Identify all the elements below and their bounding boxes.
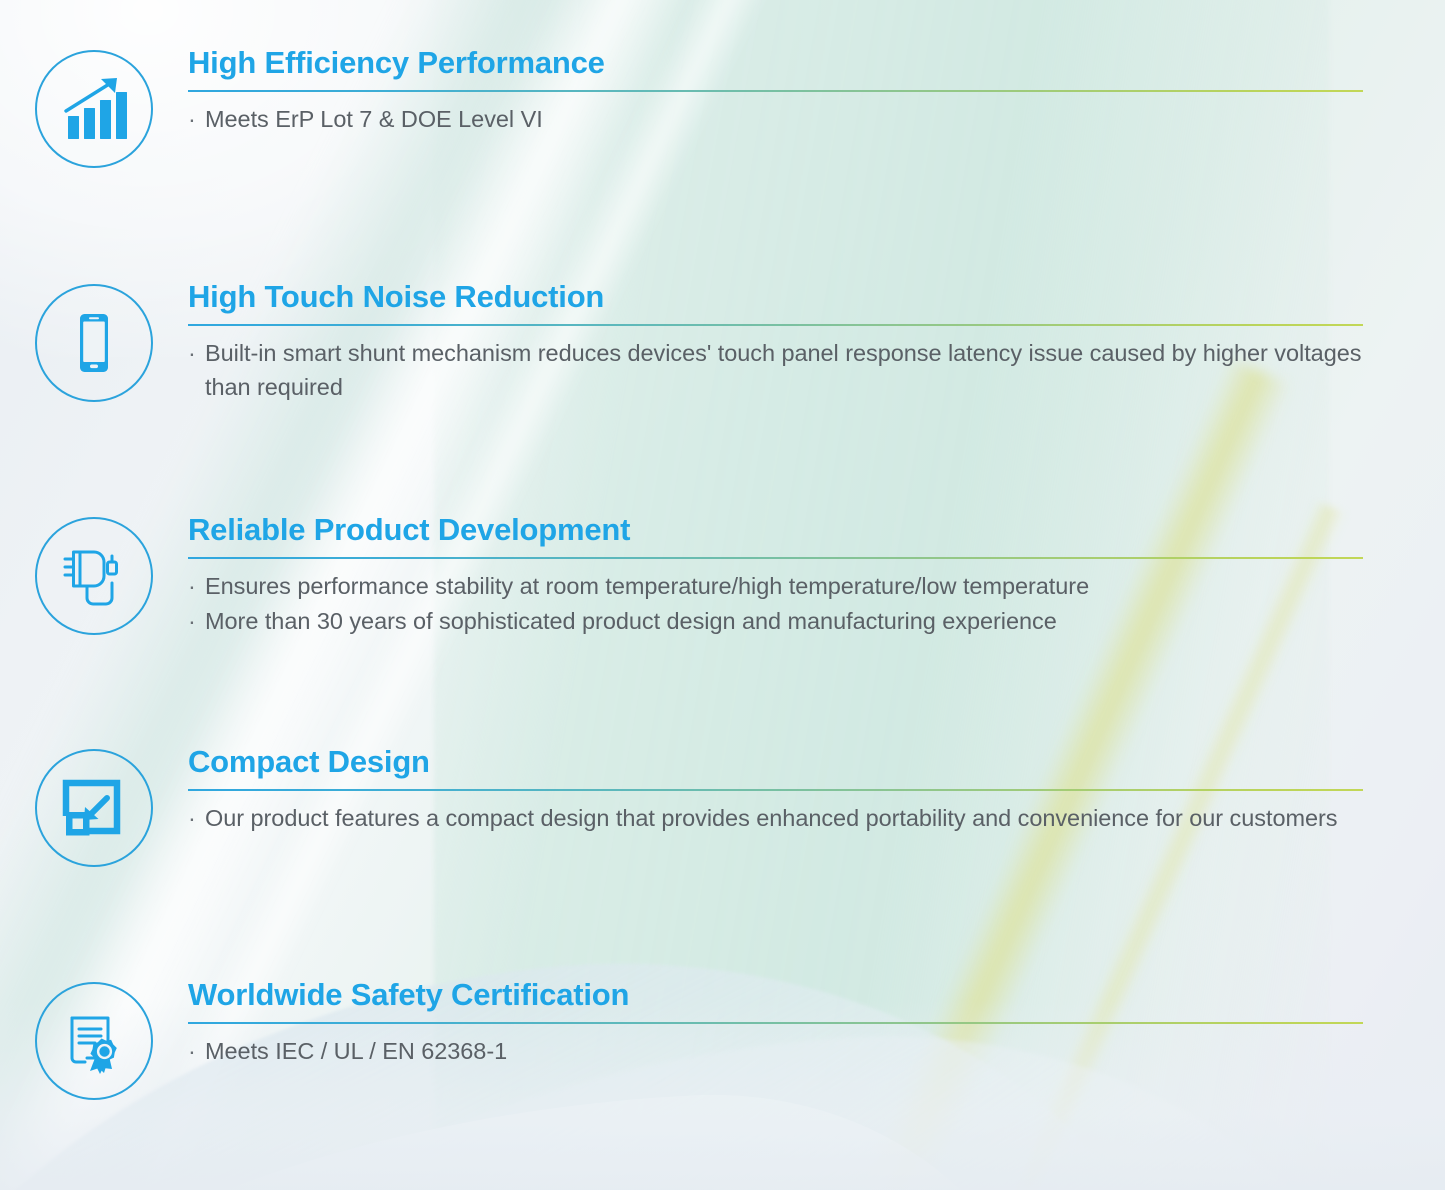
feature-item-reliable-product-development: Reliable Product Development · Ensures p…: [0, 513, 1445, 639]
feature-bullet-list: · Ensures performance stability at room …: [188, 569, 1363, 640]
feature-text-block: Compact Design · Our product features a …: [188, 745, 1445, 835]
feature-item-compact-design: Compact Design · Our product features a …: [0, 745, 1445, 867]
bullet-text: Ensures performance stability at room te…: [205, 569, 1363, 604]
feature-item-worldwide-safety-certification: Worldwide Safety Certification · Meets I…: [0, 978, 1445, 1100]
feature-bullet: · Ensures performance stability at room …: [188, 569, 1363, 604]
feature-divider-rule: [188, 557, 1363, 559]
feature-bullet-list: · Built-in smart shunt mechanism reduces…: [188, 336, 1363, 406]
growth-bar-chart-icon: [35, 50, 153, 168]
feature-bullet: · Meets ErP Lot 7 & DOE Level VI: [188, 102, 1363, 137]
feature-bullet: · Meets IEC / UL / EN 62368-1: [188, 1034, 1363, 1069]
bullet-text: Built-in smart shunt mechanism reduces d…: [205, 336, 1363, 406]
compact-resize-icon: [35, 749, 153, 867]
feature-bullet-list: · Meets IEC / UL / EN 62368-1: [188, 1034, 1363, 1069]
feature-icon-container: [0, 978, 188, 1100]
feature-bullet: · More than 30 years of sophisticated pr…: [188, 604, 1363, 639]
feature-bullet-list: · Meets ErP Lot 7 & DOE Level VI: [188, 102, 1363, 137]
feature-title: High Touch Noise Reduction: [188, 280, 1363, 315]
feature-divider-rule: [188, 789, 1363, 791]
feature-bullet: · Our product features a compact design …: [188, 801, 1363, 836]
feature-bullet: · Built-in smart shunt mechanism reduces…: [188, 336, 1363, 406]
feature-icon-container: [0, 46, 188, 168]
feature-divider-rule: [188, 90, 1363, 92]
feature-text-block: Reliable Product Development · Ensures p…: [188, 513, 1445, 639]
feature-icon-container: [0, 280, 188, 402]
certificate-seal-icon: [35, 982, 153, 1100]
feature-title: Compact Design: [188, 745, 1363, 780]
smartphone-icon: [35, 284, 153, 402]
feature-list: High Efficiency Performance · Meets ErP …: [0, 0, 1445, 1190]
power-adapter-icon: [35, 517, 153, 635]
feature-item-high-touch-noise-reduction: High Touch Noise Reduction · Built-in sm…: [0, 280, 1445, 405]
feature-text-block: Worldwide Safety Certification · Meets I…: [188, 978, 1445, 1068]
feature-bullet-list: · Our product features a compact design …: [188, 801, 1363, 836]
feature-title: Worldwide Safety Certification: [188, 978, 1363, 1013]
feature-title: Reliable Product Development: [188, 513, 1363, 548]
bullet-marker: ·: [188, 569, 205, 604]
bullet-marker: ·: [188, 102, 205, 137]
bullet-marker: ·: [188, 336, 205, 371]
feature-item-high-efficiency-performance: High Efficiency Performance · Meets ErP …: [0, 46, 1445, 168]
feature-title: High Efficiency Performance: [188, 46, 1363, 81]
feature-icon-container: [0, 513, 188, 635]
feature-divider-rule: [188, 324, 1363, 326]
feature-divider-rule: [188, 1022, 1363, 1024]
bullet-text: Meets IEC / UL / EN 62368-1: [205, 1034, 1363, 1069]
bullet-marker: ·: [188, 1034, 205, 1069]
feature-text-block: High Touch Noise Reduction · Built-in sm…: [188, 280, 1445, 405]
feature-text-block: High Efficiency Performance · Meets ErP …: [188, 46, 1445, 136]
bullet-text: Our product features a compact design th…: [205, 801, 1363, 836]
bullet-marker: ·: [188, 801, 205, 836]
feature-icon-container: [0, 745, 188, 867]
bullet-marker: ·: [188, 604, 205, 639]
bullet-text: More than 30 years of sophisticated prod…: [205, 604, 1363, 639]
bullet-text: Meets ErP Lot 7 & DOE Level VI: [205, 102, 1363, 137]
